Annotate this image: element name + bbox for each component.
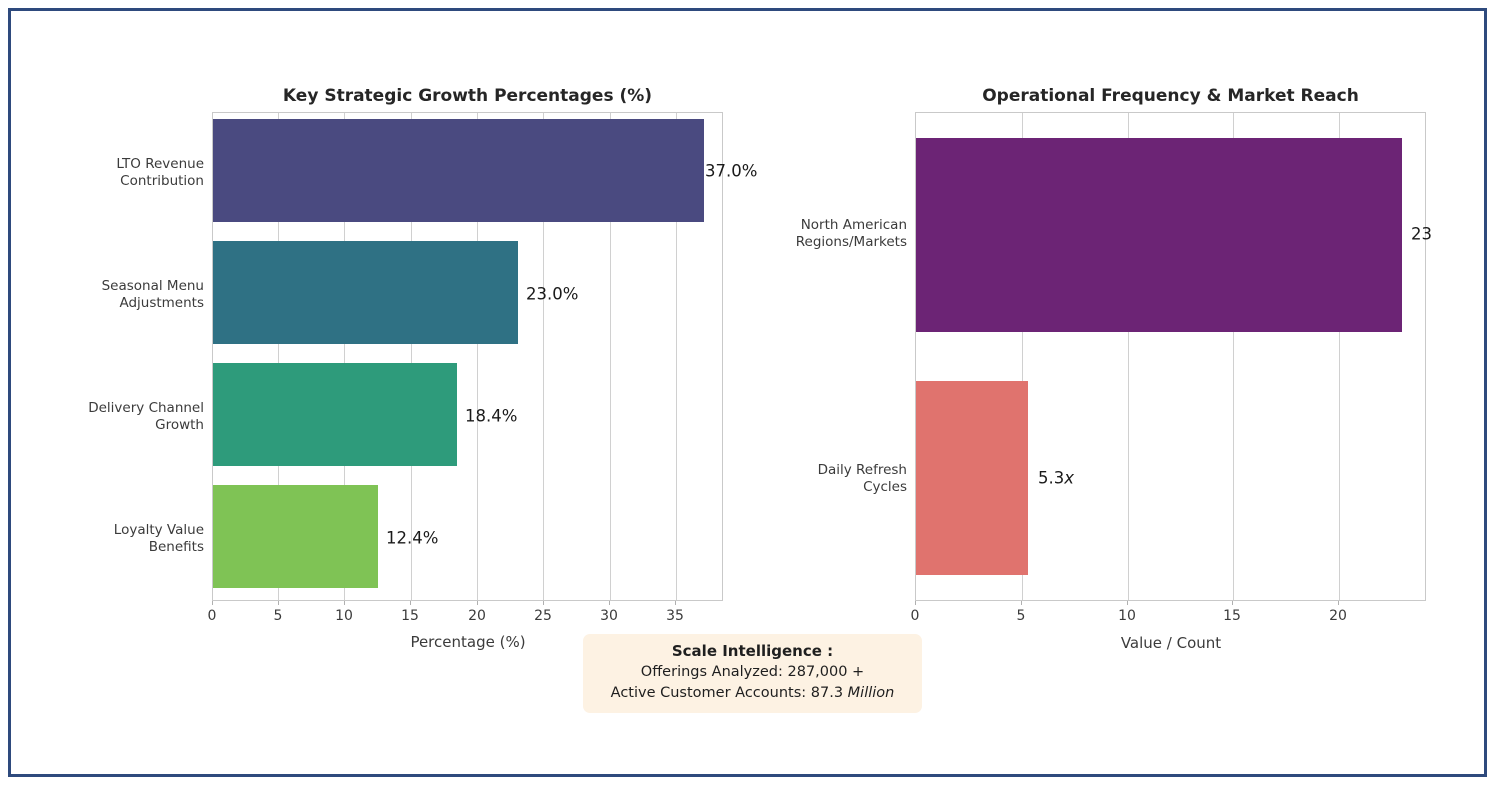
x-tick-label-25: 25 [534,608,552,624]
bar-value-label-loyalty-value-benefits: 12.4% [386,529,438,548]
tick-mark [410,601,411,605]
left-x-axis-label: Percentage (%) [410,633,525,651]
x-tick-label-5: 5 [274,608,283,624]
bar-value-label-seasonal-menu-adjustments: 23.0% [526,285,578,304]
bar-value-label-lto-revenue-contribution: 37.0% [705,162,757,181]
x-tick-label-10: 10 [1118,608,1136,624]
category-label-lto-revenue-contribution: LTO Revenue Contribution [12,156,204,190]
scale-intelligence-heading: Scale Intelligence : [593,641,912,662]
x-tick-label-15: 15 [401,608,419,624]
x-tick-label-20: 20 [1329,608,1347,624]
x-tick-label-35: 35 [666,608,684,624]
category-label-loyalty-value-benefits: Loyalty Value Benefits [12,522,204,556]
category-label-delivery-channel-growth: Delivery Channel Growth [12,400,204,434]
bar-loyalty-value-benefits [213,485,378,588]
value-text: 23 [1411,225,1432,244]
tick-mark [212,601,213,605]
tick-mark [1021,601,1022,605]
bar-value-label-north-american-regions-markets: 23 [1411,225,1432,244]
accounts-text: Active Customer Accounts: 87.3 [611,685,848,701]
right-plot-area [915,112,1426,601]
bar-seasonal-menu-adjustments [213,241,518,344]
category-label-seasonal-menu-adjustments: Seasonal Menu Adjustments [12,278,204,312]
category-label-daily-refresh-cycles: Daily Refresh Cycles [715,462,907,496]
tick-mark [1127,601,1128,605]
right-x-axis-label: Value / Count [1121,634,1221,652]
scale-intelligence-annotation: Scale Intelligence : Offerings Analyzed:… [583,634,922,713]
bar-value-label-delivery-channel-growth: 18.4% [465,407,517,426]
bar-north-american-regions-markets [916,138,1402,332]
tick-mark [675,601,676,605]
left-chart-panel: Key Strategic Growth Percentages (%) LTO… [0,0,760,700]
x-tick-label-10: 10 [335,608,353,624]
value-unit: x [1064,469,1074,488]
tick-mark [278,601,279,605]
scale-intelligence-line-offerings: Offerings Analyzed: 287,000 + [593,662,912,683]
x-tick-label-5: 5 [1017,608,1026,624]
value-text: 5.3 [1038,469,1064,488]
tick-mark [543,601,544,605]
bar-lto-revenue-contribution [213,119,704,222]
tick-mark [1232,601,1233,605]
scale-intelligence-line-accounts: Active Customer Accounts: 87.3 Million [593,683,912,704]
left-chart-title: Key Strategic Growth Percentages (%) [212,86,723,106]
tick-mark [477,601,478,605]
tick-mark [609,601,610,605]
bar-delivery-channel-growth [213,363,457,466]
tick-mark [1338,601,1339,605]
x-tick-label-20: 20 [468,608,486,624]
x-tick-label-15: 15 [1223,608,1241,624]
accounts-unit: Million [848,685,895,701]
x-tick-label-30: 30 [600,608,618,624]
left-plot-area [212,112,723,601]
x-tick-label-0: 0 [208,608,217,624]
figure-canvas: Key Strategic Growth Percentages (%) LTO… [0,0,1503,793]
right-chart-title: Operational Frequency & Market Reach [915,86,1426,106]
bar-value-label-daily-refresh-cycles: 5.3x [1038,469,1074,488]
category-label-north-american-regions-markets: North American Regions/Markets [715,217,907,251]
bar-daily-refresh-cycles [916,381,1028,575]
tick-mark [915,601,916,605]
x-tick-label-0: 0 [911,608,920,624]
tick-mark [344,601,345,605]
right-chart-panel: Operational Frequency & Market Reach Nor… [760,0,1503,700]
